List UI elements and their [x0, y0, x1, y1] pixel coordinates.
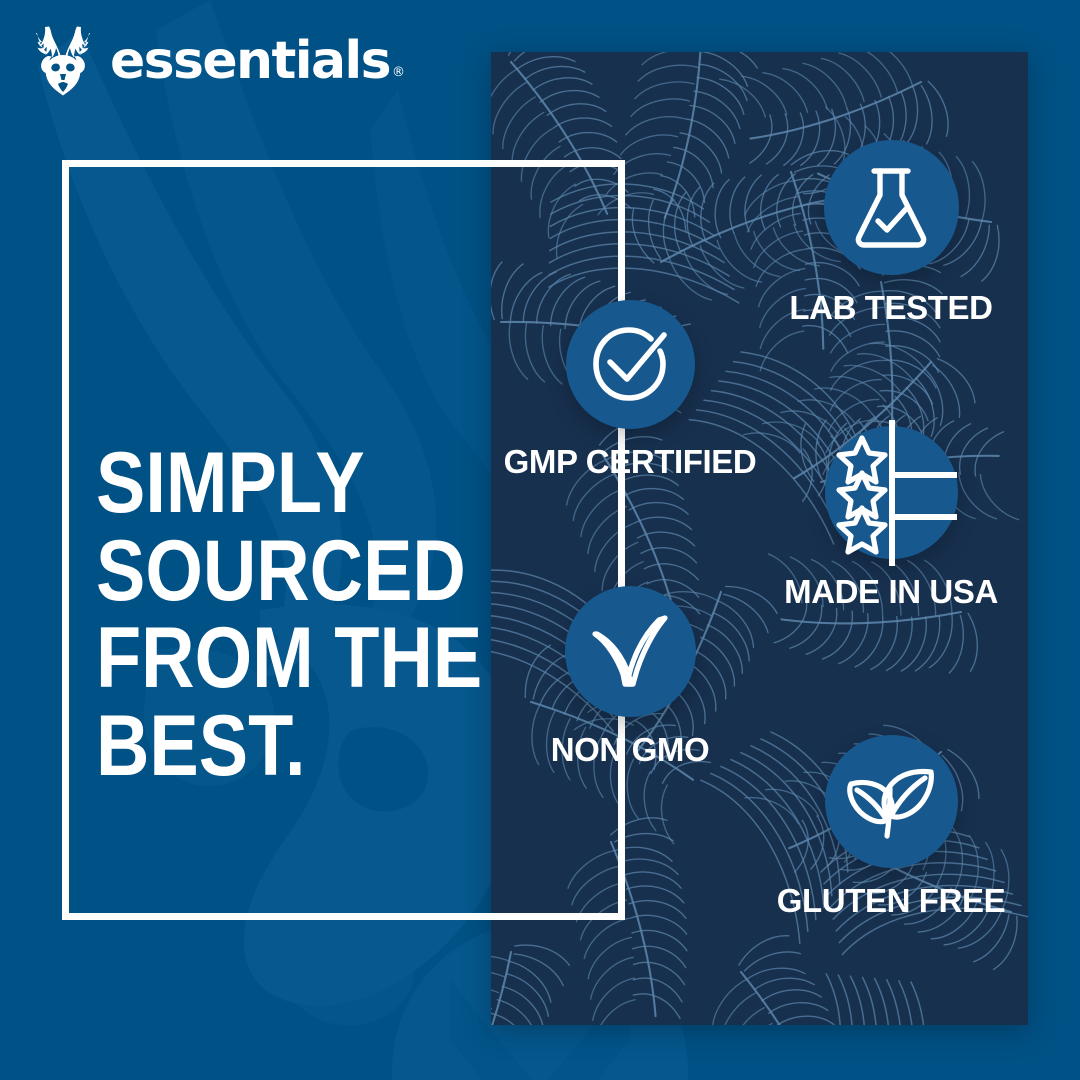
sprout-check-icon — [587, 612, 673, 692]
brand-lockup: essentials ® — [30, 22, 405, 100]
badge-non-gmo: NON GMO — [495, 586, 765, 769]
badge-lab-tested: LAB TESTED — [756, 140, 1026, 327]
headline-line-1: SIMPLY — [96, 440, 466, 528]
brand-wordmark: essentials — [110, 38, 390, 85]
two-leaves-icon — [845, 762, 937, 842]
stag-head-icon — [30, 24, 96, 98]
badge-gluten-free: GLUTEN FREE — [756, 735, 1026, 920]
headline-line-2: SOURCED — [96, 528, 466, 616]
badge-label: NON GMO — [551, 731, 710, 769]
circle-check-icon — [588, 323, 672, 407]
usa-flag-stars-stripes-icon — [817, 418, 967, 568]
badge-label: GLUTEN FREE — [777, 882, 1005, 920]
badge-label: MADE IN USA — [784, 573, 998, 611]
badge-made-in-usa: MADE IN USA — [756, 426, 1026, 611]
page-title: SIMPLY SOURCED FROM THE BEST. — [96, 440, 466, 791]
registered-trademark-icon: ® — [392, 65, 405, 80]
headline-line-3: FROM THE — [96, 615, 466, 703]
flask-check-icon — [850, 165, 932, 251]
headline-line-4: BEST. — [96, 703, 466, 791]
badge-label: GMP CERTIFIED — [504, 443, 757, 481]
promo-graphic: essentials ® SIMPLY SOURCED FROM THE BES… — [0, 0, 1080, 1080]
badge-label: LAB TESTED — [789, 289, 992, 327]
badge-gmp-certified: GMP CERTIFIED — [495, 300, 765, 481]
